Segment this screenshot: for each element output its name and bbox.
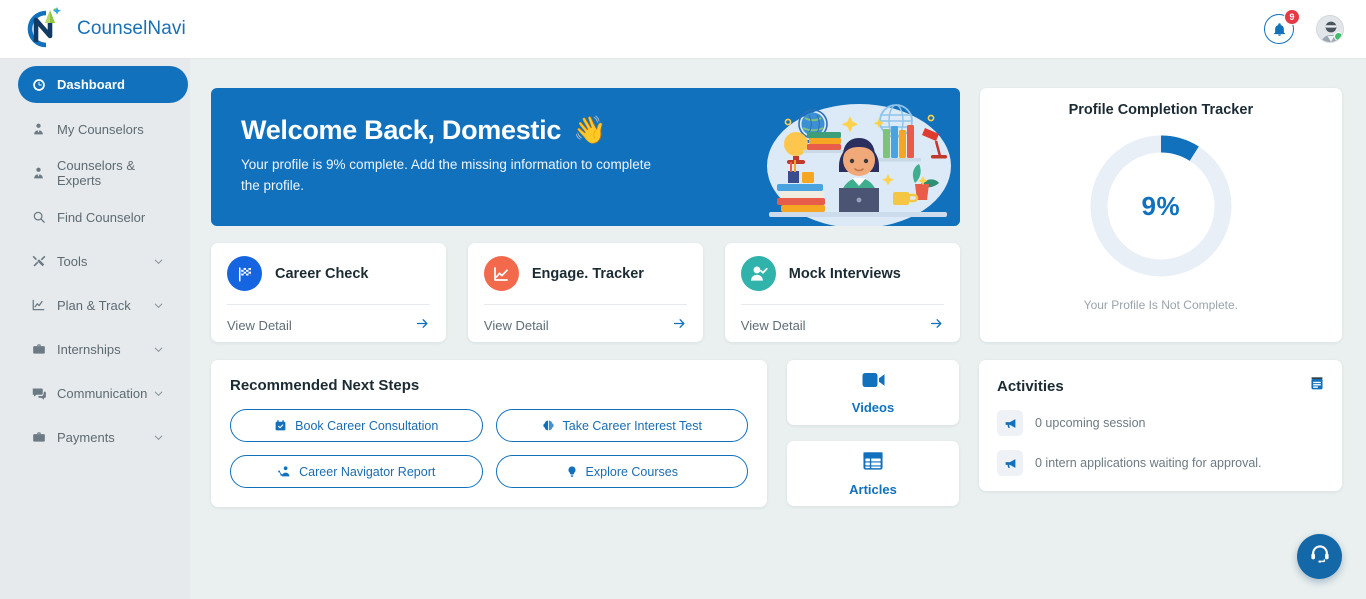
video-icon xyxy=(861,371,886,394)
chevron-down-icon[interactable] xyxy=(153,388,164,399)
feature-card-title: Career Check xyxy=(275,266,369,282)
tools-icon xyxy=(30,254,47,268)
view-detail-label: View Detail xyxy=(741,318,806,333)
view-detail-link[interactable]: View Detail xyxy=(227,316,430,335)
avatar[interactable] xyxy=(1316,15,1344,43)
sidebar-item-tools[interactable]: Tools xyxy=(18,243,176,279)
step-label: Take Career Interest Test xyxy=(563,419,702,433)
sidebar-item-dashboard[interactable]: Dashboard xyxy=(18,66,188,103)
step-label: Career Navigator Report xyxy=(299,465,435,479)
support-chat-button[interactable] xyxy=(1297,534,1342,579)
chevron-down-icon[interactable] xyxy=(153,432,164,443)
explore-courses-button[interactable]: Explore Courses xyxy=(496,455,749,488)
online-indicator xyxy=(1334,32,1343,41)
lightbulb-icon xyxy=(566,465,578,478)
wave-hand-icon: 👋 xyxy=(573,114,606,146)
user-check-icon xyxy=(741,256,776,291)
view-detail-label: View Detail xyxy=(484,318,549,333)
feature-card-mock-interviews[interactable]: Mock Interviews View Detail xyxy=(725,243,960,342)
divider xyxy=(741,304,944,305)
headset-support-icon xyxy=(1309,543,1331,570)
sidebar-item-label: Payments xyxy=(57,430,115,445)
recommended-next-steps-card: Recommended Next Steps Book Career Consu… xyxy=(211,360,767,507)
arrow-right-icon xyxy=(415,316,430,335)
take-career-interest-test-button[interactable]: Take Career Interest Test xyxy=(496,409,749,442)
user-tie-icon xyxy=(30,122,47,136)
steps-grid: Book Career Consultation Take Career Int… xyxy=(230,409,748,488)
videos-tile[interactable]: Videos xyxy=(787,360,959,425)
feature-cards-row: Career Check View Detail xyxy=(211,243,960,342)
divider xyxy=(227,304,430,305)
notification-badge: 9 xyxy=(1284,9,1300,25)
step-label: Book Career Consultation xyxy=(295,419,438,433)
sidebar-item-label: Find Counselor xyxy=(57,210,145,225)
profile-completion-tracker: Profile Completion Tracker 9% Your Profi… xyxy=(980,88,1342,342)
activities-card: Activities 0 upcomi xyxy=(979,360,1342,491)
chart-line-icon xyxy=(30,298,47,312)
activities-title: Activities xyxy=(997,378,1064,395)
comments-icon xyxy=(30,386,47,401)
view-detail-label: View Detail xyxy=(227,318,292,333)
sidebar-item-label: Plan & Track xyxy=(57,298,131,313)
chevron-down-icon[interactable] xyxy=(153,256,164,267)
welcome-subtitle: Your profile is 9% complete. Add the mis… xyxy=(241,154,669,196)
feature-card-engage-tracker[interactable]: Engage. Tracker View Detail xyxy=(468,243,703,342)
arrow-right-icon xyxy=(672,316,687,335)
view-detail-link[interactable]: View Detail xyxy=(741,316,944,335)
sidebar-item-label: Counselors & Experts xyxy=(57,158,164,188)
tracker-title: Profile Completion Tracker xyxy=(980,102,1342,118)
sidebar-item-my-counselors[interactable]: My Counselors xyxy=(18,111,176,147)
career-navigator-report-button[interactable]: Career Navigator Report xyxy=(230,455,483,488)
bell-icon xyxy=(1272,22,1287,37)
header-actions: 9 xyxy=(1264,14,1344,44)
page-title: Welcome Back, Domestic xyxy=(241,115,561,146)
user-tie-icon xyxy=(30,166,47,180)
view-detail-link[interactable]: View Detail xyxy=(484,316,687,335)
activity-item: 0 intern applications waiting for approv… xyxy=(997,450,1324,476)
welcome-title-row: Welcome Back, Domestic 👋 xyxy=(241,114,771,146)
sidebar-item-payments[interactable]: Payments xyxy=(18,419,176,455)
gauge-icon xyxy=(30,78,47,92)
welcome-banner: Welcome Back, Domestic 👋 Your profile is… xyxy=(211,88,960,226)
user-graph-icon xyxy=(277,465,291,478)
main-content: Welcome Back, Domestic 👋 Your profile is… xyxy=(190,59,1366,599)
media-tiles: Videos Articles xyxy=(787,360,959,507)
app-header: CounselNavi 9 xyxy=(0,0,1366,59)
profile-completion-donut: 9% xyxy=(1085,130,1237,282)
sidebar-item-label: Communication xyxy=(57,386,147,401)
brand-name: CounselNavi xyxy=(77,18,186,40)
notifications-button[interactable]: 9 xyxy=(1264,14,1294,44)
activity-text: 0 intern applications waiting for approv… xyxy=(1035,456,1262,470)
feature-card-title: Mock Interviews xyxy=(789,266,901,282)
step-label: Explore Courses xyxy=(586,465,678,479)
sidebar: Dashboard My Counselors Counselors & Exp… xyxy=(0,59,190,599)
activity-item: 0 upcoming session xyxy=(997,410,1324,436)
calendar-check-icon xyxy=(274,419,287,432)
completion-percent: 9% xyxy=(1085,130,1237,282)
sidebar-item-find-counselor[interactable]: Find Counselor xyxy=(18,199,176,235)
steps-title: Recommended Next Steps xyxy=(230,377,748,394)
sidebar-item-label: Internships xyxy=(57,342,121,357)
book-career-consultation-button[interactable]: Book Career Consultation xyxy=(230,409,483,442)
brand[interactable]: CounselNavi xyxy=(16,4,186,54)
megaphone-icon xyxy=(997,410,1023,436)
arrow-right-icon xyxy=(929,316,944,335)
sidebar-item-internships[interactable]: Internships xyxy=(18,331,176,367)
student-studying-illustration xyxy=(755,88,960,226)
welcome-banner-text: Welcome Back, Domestic 👋 Your profile is… xyxy=(211,88,771,226)
search-icon xyxy=(30,210,47,224)
chevron-down-icon[interactable] xyxy=(153,344,164,355)
sidebar-item-communication[interactable]: Communication xyxy=(18,375,176,411)
counselnavi-logo-icon xyxy=(16,4,68,54)
brain-icon xyxy=(542,419,555,432)
sidebar-item-plan-track[interactable]: Plan & Track xyxy=(18,287,176,323)
megaphone-icon xyxy=(997,450,1023,476)
sidebar-item-label: Tools xyxy=(57,254,87,269)
briefcase-icon xyxy=(30,430,47,444)
sidebar-item-label: Dashboard xyxy=(57,77,125,92)
tile-label: Articles xyxy=(849,482,897,497)
divider xyxy=(484,304,687,305)
tile-label: Videos xyxy=(852,400,894,415)
sidebar-item-label: My Counselors xyxy=(57,122,144,137)
articles-tile[interactable]: Articles xyxy=(787,441,959,506)
sidebar-item-counselors-experts[interactable]: Counselors & Experts xyxy=(18,155,176,191)
activity-text: 0 upcoming session xyxy=(1035,416,1145,430)
feature-card-career-check[interactable]: Career Check View Detail xyxy=(211,243,446,342)
chevron-down-icon[interactable] xyxy=(153,300,164,311)
feature-card-title: Engage. Tracker xyxy=(532,266,644,282)
chart-line-icon xyxy=(484,256,519,291)
briefcase-icon xyxy=(30,342,47,356)
table-list-icon xyxy=(862,451,884,476)
tracker-note: Your Profile Is Not Complete. xyxy=(980,298,1342,312)
calendar-icon[interactable] xyxy=(1310,376,1324,396)
flag-checkered-icon xyxy=(227,256,262,291)
